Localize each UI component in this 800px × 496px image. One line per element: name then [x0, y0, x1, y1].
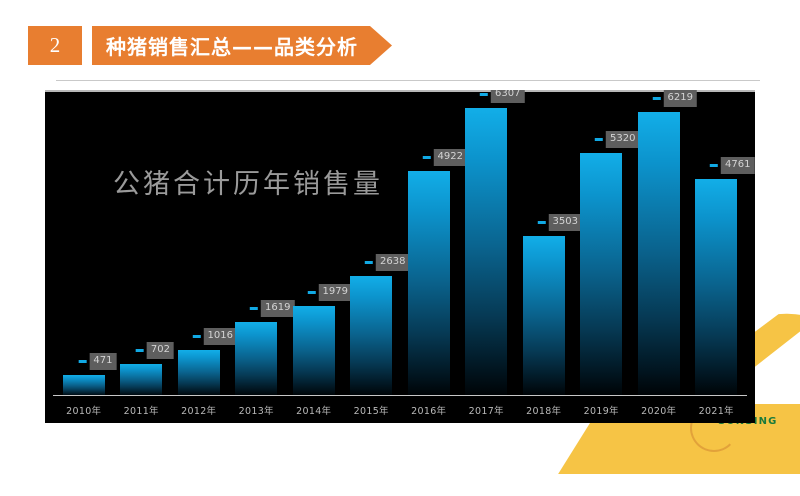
x-tick-2020年: 2020年: [630, 403, 688, 417]
label-dash-icon: [423, 156, 431, 159]
x-tick-2012年: 2012年: [170, 403, 228, 417]
bar-2011年[interactable]: 702: [120, 364, 162, 396]
chevron-right-icon: [370, 26, 392, 65]
bar-slot: 6219: [630, 108, 688, 396]
bar-2016年[interactable]: 4922: [408, 171, 450, 396]
label-dash-icon: [78, 360, 86, 363]
header-spacer: [82, 26, 92, 65]
bar-data-label: 6307: [480, 90, 524, 103]
label-dash-icon: [136, 349, 144, 352]
panel-top-border: [45, 90, 755, 92]
header-divider: [56, 80, 760, 81]
bar-plot-area: 4717021016161919792638492263073503532062…: [55, 108, 745, 396]
section-number-badge: 2: [28, 26, 82, 65]
label-dash-icon: [193, 335, 201, 338]
x-tick-2019年: 2019年: [573, 403, 631, 417]
header-title-banner: 种猪销售汇总——品类分析: [92, 26, 392, 65]
bar-slot: 6307: [458, 108, 516, 396]
bar-value-text: 6219: [664, 90, 697, 107]
label-dash-icon: [250, 307, 258, 310]
bar-2013年[interactable]: 1619: [235, 322, 277, 396]
bar-data-label: 6219: [653, 90, 697, 107]
label-dash-icon: [710, 164, 718, 167]
bar-value-text: 4761: [721, 157, 754, 174]
bar-2012年[interactable]: 1016: [178, 350, 220, 396]
x-axis-line: [53, 395, 747, 396]
slide-header: 2 种猪销售汇总——品类分析: [28, 26, 392, 65]
bar-2017年[interactable]: 6307: [465, 108, 507, 396]
bar-slot: 1979: [285, 108, 343, 396]
bar-slot: 4922: [400, 108, 458, 396]
label-dash-icon: [308, 291, 316, 294]
x-tick-2010年: 2010年: [55, 403, 113, 417]
bar-data-label: 4761: [710, 157, 754, 174]
bar-data-label: 471: [78, 353, 116, 370]
page-title: 种猪销售汇总——品类分析: [92, 26, 370, 65]
bar-slot: 471: [55, 108, 113, 396]
bar-2021年[interactable]: 4761: [695, 179, 737, 396]
x-tick-2018年: 2018年: [515, 403, 573, 417]
bar-data-label: 702: [136, 342, 174, 359]
bar-slot: 1619: [228, 108, 286, 396]
bar-slot: 1016: [170, 108, 228, 396]
x-axis-tick-labels: 2010年2011年2012年2013年2014年2015年2016年2017年…: [55, 403, 745, 417]
bar-slot: 5320: [573, 108, 631, 396]
x-tick-2021年: 2021年: [688, 403, 746, 417]
label-dash-icon: [653, 97, 661, 100]
x-tick-2011年: 2011年: [113, 403, 171, 417]
chart-panel: 公猪合计历年销售量 471702101616191979263849226307…: [45, 90, 755, 423]
bar-2020年[interactable]: 6219: [638, 112, 680, 396]
label-dash-icon: [538, 221, 546, 224]
x-tick-2015年: 2015年: [343, 403, 401, 417]
bar-2019年[interactable]: 5320: [580, 153, 622, 396]
label-dash-icon: [595, 138, 603, 141]
x-tick-2014年: 2014年: [285, 403, 343, 417]
bar-2010年[interactable]: 471: [63, 375, 105, 397]
bar-slot: 3503: [515, 108, 573, 396]
label-dash-icon: [480, 93, 488, 96]
label-dash-icon: [365, 261, 373, 264]
x-tick-2017年: 2017年: [458, 403, 516, 417]
bar-2014年[interactable]: 1979: [293, 306, 335, 396]
bar-slot: 2638: [343, 108, 401, 396]
bar-slot: 4761: [688, 108, 746, 396]
bar-2018年[interactable]: 3503: [523, 236, 565, 396]
bar-slot: 702: [113, 108, 171, 396]
x-tick-2013年: 2013年: [228, 403, 286, 417]
x-tick-2016年: 2016年: [400, 403, 458, 417]
bar-2015年[interactable]: 2638: [350, 276, 392, 396]
bar-value-text: 6307: [491, 90, 524, 103]
